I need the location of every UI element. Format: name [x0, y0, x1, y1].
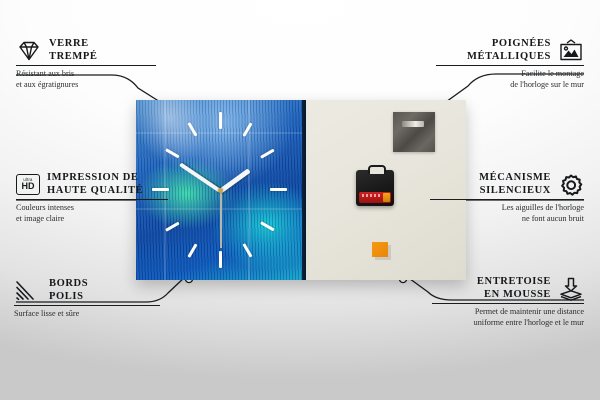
feature-header: MÉCANISME SILENCIEUX — [430, 172, 584, 197]
picture-hook-icon — [558, 39, 584, 62]
clock-hand-minute — [179, 163, 221, 193]
battery-terminal — [383, 193, 390, 202]
gear-icon — [558, 173, 584, 197]
feature-verre-trempe: VERRE TREMPÉ Résistant aux bris et aux é… — [16, 38, 156, 90]
feature-description: Permet de maintenir une distance uniform… — [432, 307, 584, 327]
movement-hook-tab — [368, 165, 386, 174]
divider — [436, 65, 584, 66]
clock-tick — [270, 188, 287, 191]
clock-tick — [242, 122, 252, 136]
feature-header: VERRE TREMPÉ — [16, 38, 156, 63]
feature-title: ENTRETOISE EN MOUSSE — [477, 276, 551, 301]
polished-edge-icon — [14, 280, 42, 302]
feature-description: Les aiguilles de l'horloge ne font aucun… — [430, 203, 584, 223]
feature-title: POIGNÉES MÉTALLIQUES — [467, 38, 551, 63]
feature-title: MÉCANISME SILENCIEUX — [479, 172, 551, 197]
feature-title: VERRE TREMPÉ — [49, 38, 98, 63]
metal-hanger-plate — [393, 112, 435, 152]
diamond-icon — [16, 40, 42, 62]
clock-movement — [356, 170, 394, 206]
divider — [430, 199, 584, 200]
clock-tick — [260, 222, 274, 232]
clock-tick — [187, 122, 197, 136]
feature-mecanisme-silencieux: MÉCANISME SILENCIEUX Les aiguilles de l'… — [430, 172, 584, 224]
clock-hand-second — [220, 190, 222, 248]
divider — [14, 305, 160, 306]
battery-label — [362, 194, 382, 197]
feature-header: POIGNÉES MÉTALLIQUES — [436, 38, 584, 63]
feature-description: Surface lisse et sûre — [14, 309, 160, 319]
feature-description: Facilite le montage de l'horloge sur le … — [436, 69, 584, 89]
clock-tick — [242, 243, 252, 257]
clock-center-cap — [218, 188, 223, 193]
ultra-hd-icon: ultra HD — [16, 174, 40, 195]
feature-bords-polis: BORDS POLIS Surface lisse et sûre — [14, 278, 160, 320]
divider — [16, 199, 168, 200]
feature-poignees-metalliques: POIGNÉES MÉTALLIQUES Facilite le montage… — [436, 38, 584, 90]
infographic-canvas: VERRE TREMPÉ Résistant aux bris et aux é… — [0, 0, 600, 400]
feature-header: ultra HD IMPRESSION DE HAUTE QUALITÉ — [16, 172, 168, 197]
feature-title: BORDS POLIS — [49, 278, 88, 303]
feature-description: Résistant aux bris et aux égratignures — [16, 69, 156, 89]
clock-tick — [219, 112, 222, 129]
clock-tick — [260, 149, 274, 159]
foam-spacer-icon — [558, 277, 584, 301]
divider — [16, 65, 156, 66]
product-photo — [136, 100, 466, 280]
feature-impression-haute-qualite: ultra HD IMPRESSION DE HAUTE QUALITÉ Cou… — [16, 172, 168, 224]
feature-entretoise-en-mousse: ENTRETOISE EN MOUSSE Permet de maintenir… — [432, 276, 584, 328]
foam-spacer — [372, 242, 388, 257]
divider — [432, 303, 584, 304]
battery — [359, 192, 391, 203]
clock-tick — [165, 149, 179, 159]
feature-description: Couleurs intenses et image claire — [16, 203, 168, 223]
feature-header: ENTRETOISE EN MOUSSE — [432, 276, 584, 301]
feature-title: IMPRESSION DE HAUTE QUALITÉ — [47, 172, 143, 197]
clock-tick — [187, 243, 197, 257]
clock-tick — [219, 251, 222, 268]
feature-header: BORDS POLIS — [14, 278, 160, 303]
clock-hand-hour — [219, 168, 251, 193]
hanger-slot — [402, 121, 424, 127]
